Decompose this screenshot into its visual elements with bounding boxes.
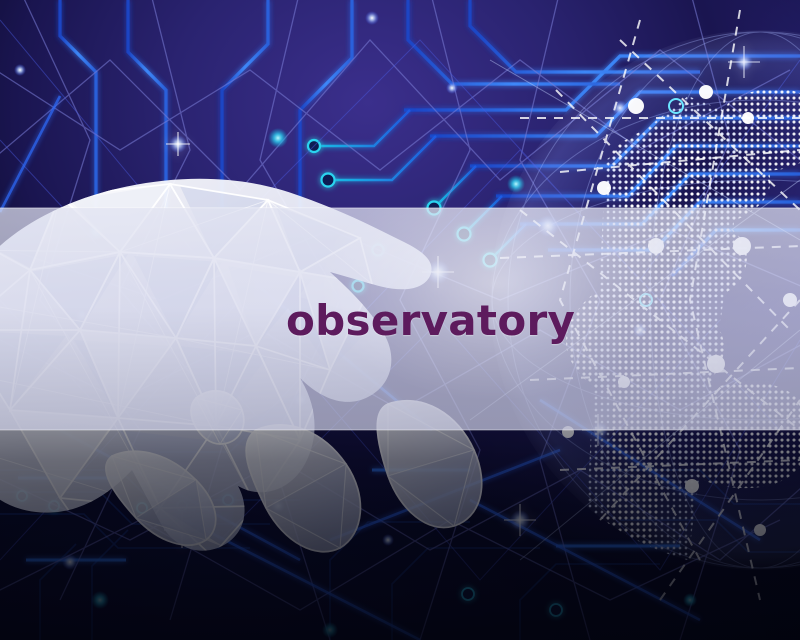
page-title: observatory xyxy=(286,296,575,345)
image-canvas: observatory xyxy=(0,0,800,640)
band-bottom-edge xyxy=(0,429,800,431)
